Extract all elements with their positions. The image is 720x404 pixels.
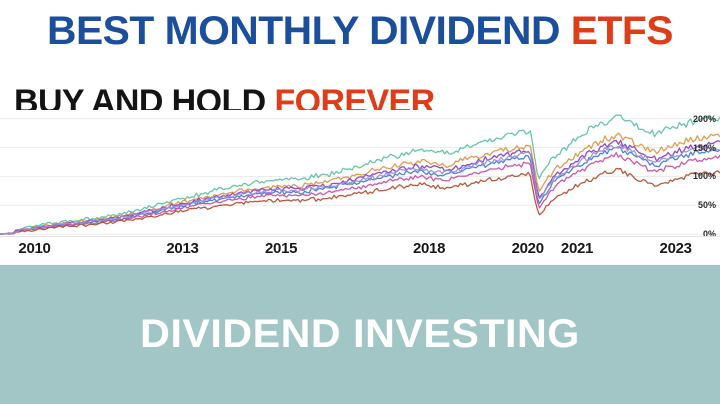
chart-x-axis: 2010201320152018202020212023 bbox=[0, 236, 720, 265]
x-axis-tick-label: 2020 bbox=[512, 240, 544, 257]
x-axis-tick-label: 2010 bbox=[18, 240, 50, 257]
page-title-part-1: BEST MONTHLY DIVIDEND bbox=[47, 9, 571, 53]
x-axis-tick-label: 2021 bbox=[561, 240, 593, 257]
x-axis-tick-label: 2015 bbox=[265, 240, 297, 257]
bottom-banner: DIVIDEND INVESTING bbox=[0, 265, 720, 404]
x-axis-tick-label: 2023 bbox=[660, 240, 692, 257]
x-axis-tick-label: 2013 bbox=[166, 240, 198, 257]
thumbnail-root: BEST MONTHLY DIVIDEND ETFS BUY AND HOLD … bbox=[0, 0, 720, 404]
x-axis-tick-label: 2018 bbox=[413, 240, 445, 257]
chart-line-series-blue bbox=[0, 147, 720, 235]
chart-series-group bbox=[0, 115, 720, 234]
page-title: BEST MONTHLY DIVIDEND ETFS bbox=[0, 8, 720, 54]
chart-line-series-brown bbox=[0, 169, 720, 235]
performance-chart: 200%150%100%50%0% 2010201320152018202020… bbox=[0, 110, 720, 265]
chart-line-series-magenta bbox=[0, 153, 720, 235]
chart-canvas bbox=[0, 110, 720, 240]
bottom-banner-text: DIVIDEND INVESTING bbox=[0, 265, 720, 404]
page-title-part-2: ETFS bbox=[571, 9, 673, 53]
